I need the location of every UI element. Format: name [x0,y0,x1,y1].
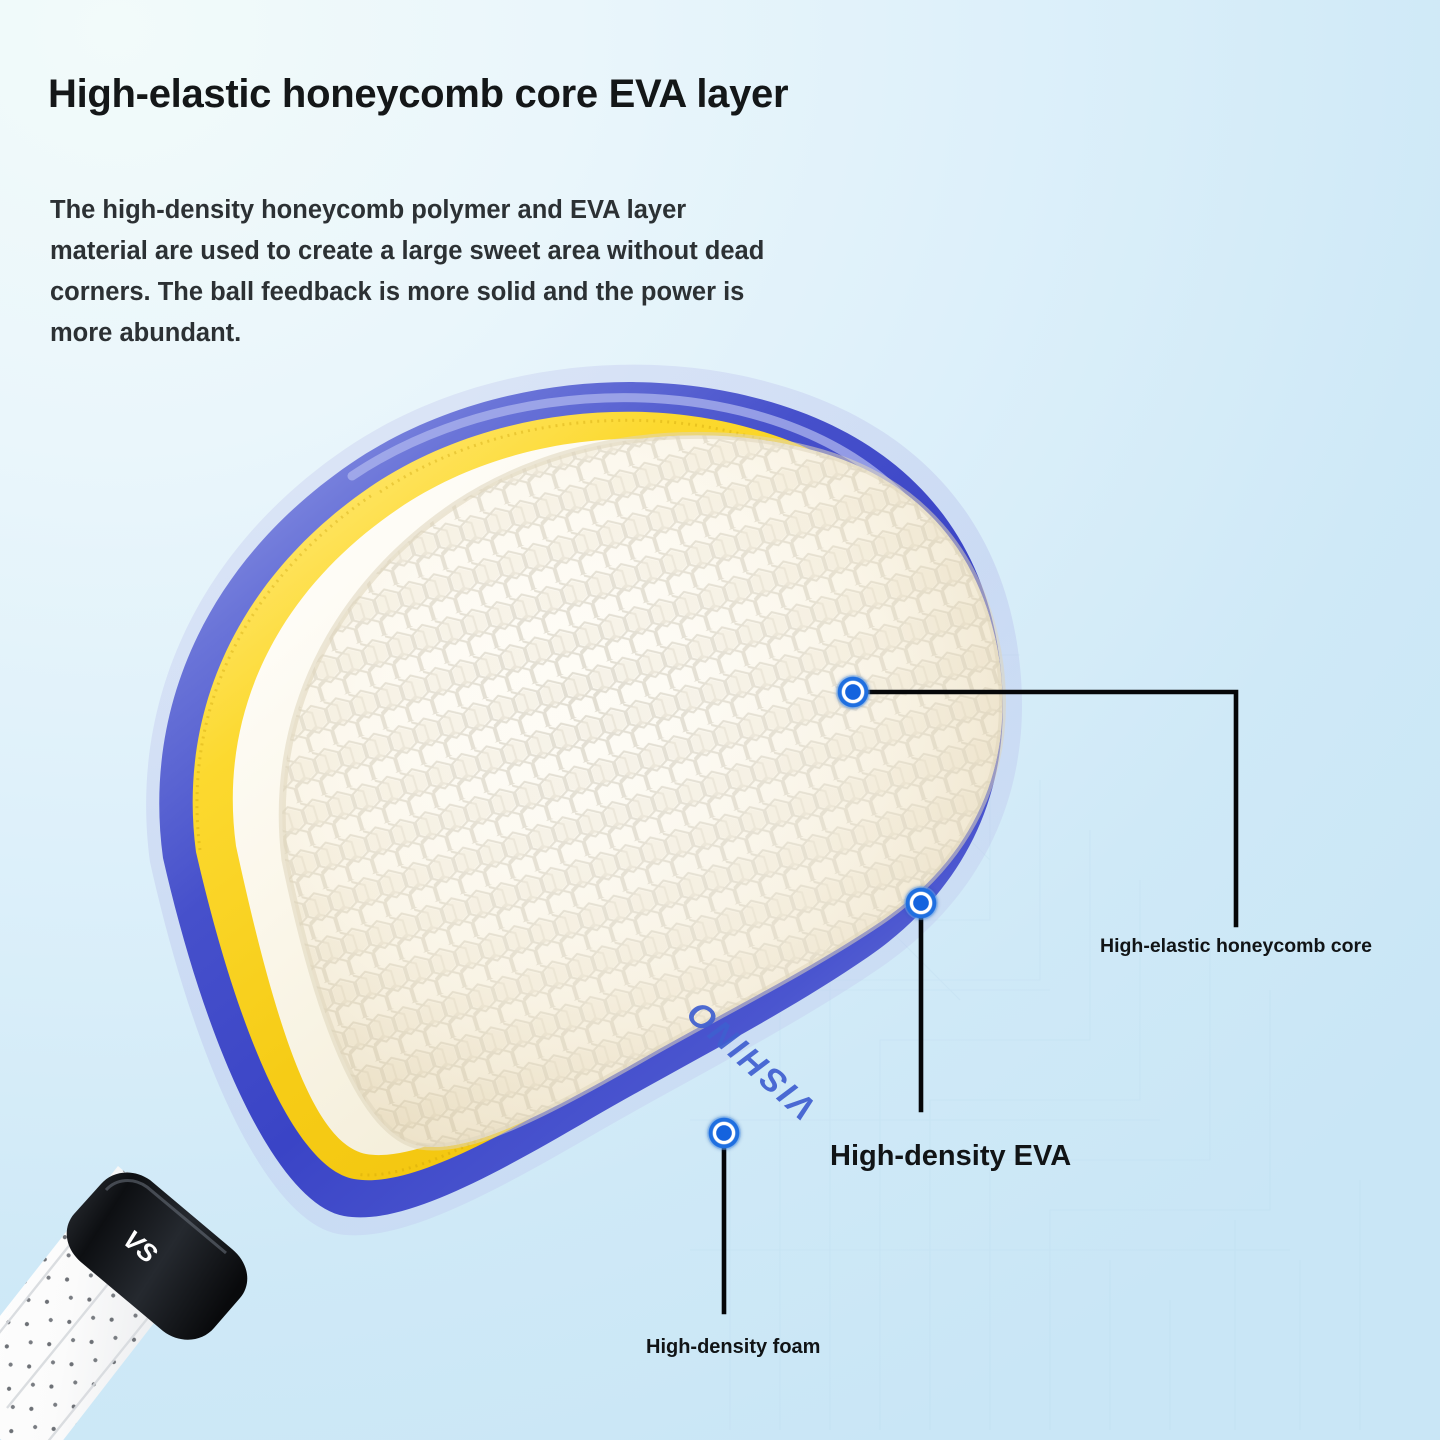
paddle-handle: VS [0,1166,247,1440]
brand-logo-vs: VS [117,1224,163,1270]
paddle-edge-guard [159,382,1003,1217]
description-paragraph: The high-density honeycomb polymer and E… [50,190,770,354]
layer-honeycomb-core [240,400,1060,1190]
infographic-canvas: High-elastic honeycomb core EVA layer Th… [0,0,1440,1440]
callout-dot-foam[interactable] [707,1116,741,1150]
callout-dot-honeycomb[interactable] [836,675,870,709]
paddle-outer-halo [146,365,1022,1236]
callout-label-high-density-foam: High-density foam [646,1336,820,1359]
callout-label-high-density-eva: High-density EVA [830,1140,1071,1173]
svg-text:VISHINO: VISHINO [678,991,823,1127]
background-watermark [690,560,1440,1440]
eva-texture [197,420,963,1175]
callout-label-honeycomb-core: High-elastic honeycomb core [1100,935,1372,958]
svg-text:VS: VS [117,1224,163,1270]
callout-dot-eva[interactable] [904,886,938,920]
layer-high-density-eva [193,412,971,1180]
paddle-brand-text: VISHINO [678,991,823,1127]
layer-high-density-foam [233,439,954,1155]
page-title: High-elastic honeycomb core EVA layer [48,72,788,117]
callout-leader-lines [724,692,1236,1312]
